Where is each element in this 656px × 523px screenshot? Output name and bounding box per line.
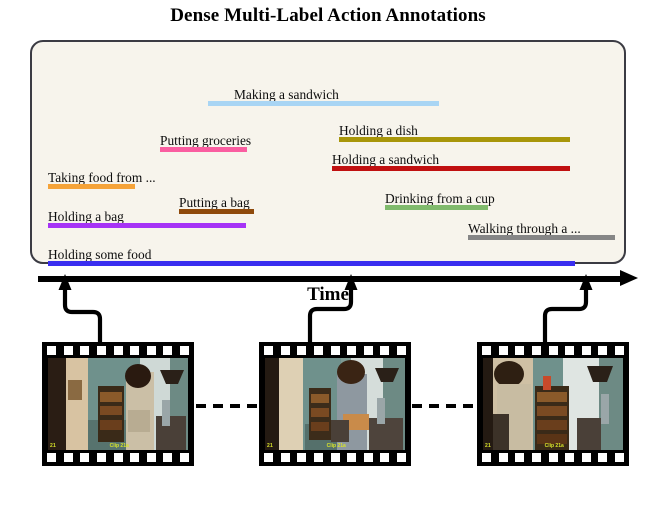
annotation-holding-some-food: Holding some food <box>48 244 575 266</box>
dash <box>429 404 439 408</box>
annotation-drinking-from-a-cup: Drinking from a cup <box>385 188 488 210</box>
frame-connectors <box>0 264 656 354</box>
dash <box>213 404 223 408</box>
annotation-label-drinking-from-a-cup: Drinking from a cup <box>385 192 495 206</box>
sprockets-bottom <box>477 452 629 463</box>
dash <box>196 404 206 408</box>
annotation-walking-through-a: Walking through a ... <box>468 218 615 240</box>
figure-root: Dense Multi-Label Action Annotations Mak… <box>0 0 656 523</box>
video-frame-1-image: 21 Clip 21a <box>48 358 188 450</box>
annotation-bar-putting-groceries <box>160 147 247 152</box>
annotation-putting-groceries: Putting groceries <box>160 130 247 152</box>
annotation-holding-a-bag: Holding a bag <box>48 206 246 228</box>
dash <box>412 404 422 408</box>
frame-2-stamp-left: 21 <box>267 443 273 449</box>
sprockets-top <box>42 345 194 356</box>
sprockets-bottom <box>259 452 411 463</box>
filmstrip-frame-3[interactable]: 21 Clip 21a <box>477 342 629 466</box>
annotation-label-taking-food-from: Taking food from ... <box>48 171 156 185</box>
annotation-bar-taking-food-from <box>48 184 135 189</box>
annotation-bar-drinking-from-a-cup <box>385 205 488 210</box>
annotation-bar-making-a-sandwich <box>208 101 439 106</box>
video-frame-3-image: 21 Clip 21a <box>483 358 623 450</box>
annotation-bar-walking-through-a <box>468 235 615 240</box>
annotation-label-walking-through-a: Walking through a ... <box>468 222 581 236</box>
annotation-holding-a-sandwich: Holding a sandwich <box>332 149 570 171</box>
sprockets-top <box>477 345 629 356</box>
frame-2-stamp-mid: Clip 21a <box>327 443 346 449</box>
annotation-bar-holding-a-dish <box>339 137 570 142</box>
annotation-taking-food-from: Taking food from ... <box>48 167 135 189</box>
dash <box>247 404 257 408</box>
frame-3-stamp-left: 21 <box>485 443 491 449</box>
annotation-label-holding-a-bag: Holding a bag <box>48 210 124 224</box>
annotation-label-holding-a-dish: Holding a dish <box>339 124 418 138</box>
dash <box>463 404 473 408</box>
frame-3-stamp-mid: Clip 21a <box>545 443 564 449</box>
annotation-label-making-a-sandwich: Making a sandwich <box>234 88 339 102</box>
annotation-bar-holding-a-bag <box>48 223 246 228</box>
sprockets-bottom <box>42 452 194 463</box>
sprockets-top <box>259 345 411 356</box>
frame-1-stamp-left: 21 <box>50 443 56 449</box>
dash <box>230 404 240 408</box>
annotation-panel: Making a sandwichPutting groceriesHoldin… <box>30 40 626 264</box>
annotation-holding-a-dish: Holding a dish <box>339 120 570 142</box>
dash <box>446 404 456 408</box>
annotation-bar-holding-a-sandwich <box>332 166 570 171</box>
filmstrip-frame-1[interactable]: 21 Clip 21a <box>42 342 194 466</box>
video-frame-2-image: 21 Clip 21a <box>265 358 405 450</box>
annotation-list: Making a sandwichPutting groceriesHoldin… <box>32 42 624 262</box>
annotation-label-holding-a-sandwich: Holding a sandwich <box>332 153 439 167</box>
annotation-label-holding-some-food: Holding some food <box>48 248 151 262</box>
annotation-label-putting-groceries: Putting groceries <box>160 134 251 148</box>
filmstrip-frame-2[interactable]: 21 Clip 21a <box>259 342 411 466</box>
figure-title: Dense Multi-Label Action Annotations <box>0 5 656 27</box>
frame-1-stamp-mid: Clip 21a <box>110 443 129 449</box>
annotation-making-a-sandwich: Making a sandwich <box>208 84 439 106</box>
